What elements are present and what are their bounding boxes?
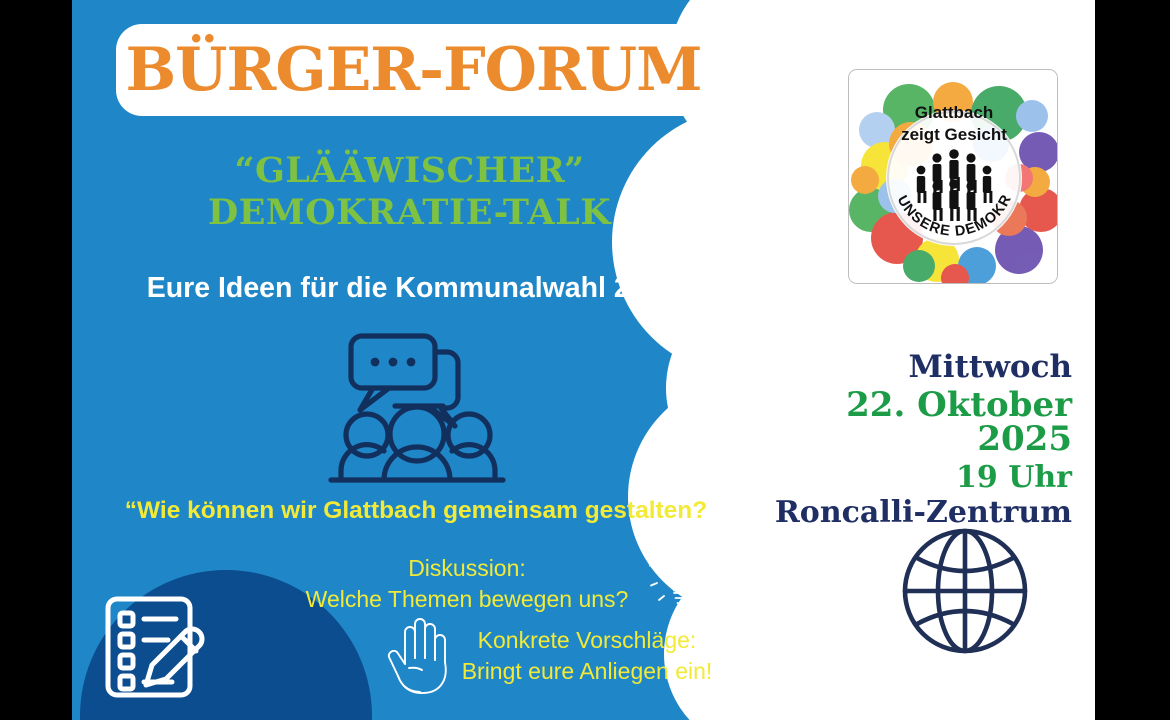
logo-glattbach-zeigt-gesicht: Glattbach zeigt Gesicht [848,69,1058,284]
point-one-title: Diskussion: [267,553,667,584]
event-day: Mittwoch [772,352,1072,384]
poster-canvas: BÜRGER-FORUM “GLÄÄWISCHER” DEMOKRATIE-TA… [72,0,1095,720]
svg-text:Glattbach: Glattbach [915,103,993,122]
checklist-pencil-icon [94,585,218,709]
point-one: Diskussion: Welche Themen bewegen uns? [267,553,667,614]
event-date: 22. Oktober 2025 [772,388,1072,457]
quote-text: “Wie können wir Glattbach gemeinsam gest… [96,497,736,525]
point-two: Konkrete Vorschläge: Bringt eure Anliege… [402,625,772,686]
subtitle: Eure Ideen für die Kommunalwahl 2026 [92,272,732,305]
lightbulb-icon [644,540,722,620]
poster-stage: BÜRGER-FORUM “GLÄÄWISCHER” DEMOKRATIE-TA… [0,0,1170,720]
letterbox-bar-left [0,0,72,720]
globe-icon [896,522,1034,660]
event-details: Mittwoch 22. Oktober 2025 19 Uhr Roncall… [772,352,1072,528]
point-two-text: Bringt eure Anliegen ein! [402,656,772,687]
svg-text:zeigt Gesicht: zeigt Gesicht [901,125,1007,144]
raised-hand-icon [375,612,455,698]
headline: “GLÄÄWISCHER” DEMOKRATIE-TALK [112,150,707,233]
point-one-text: Welche Themen bewegen uns? [267,584,667,615]
point-two-title: Konkrete Vorschläge: [402,625,772,656]
headline-line-1: “GLÄÄWISCHER” [112,150,707,192]
event-time: 19 Uhr [772,463,1072,494]
letterbox-bar-right [1095,0,1170,720]
headline-line-2: DEMOKRATIE-TALK [112,192,707,234]
title-pill: BÜRGER-FORUM [116,24,711,116]
discussion-people-icon [327,330,507,485]
page-title: BÜRGER-FORUM [125,40,701,100]
